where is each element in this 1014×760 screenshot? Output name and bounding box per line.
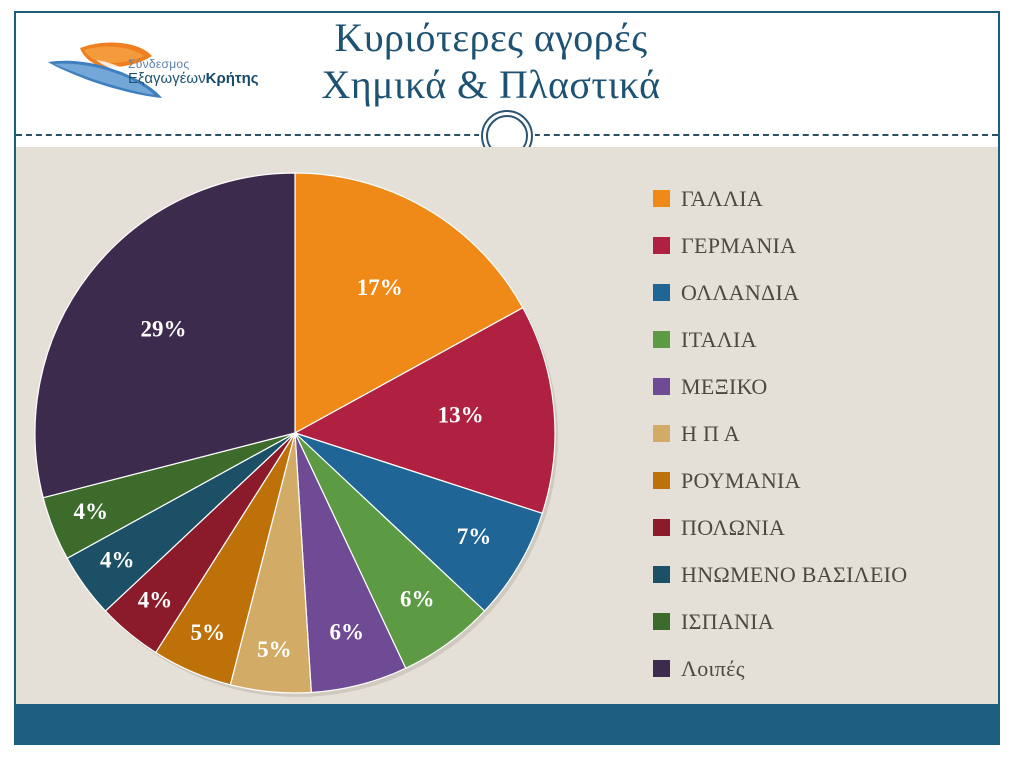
legend-swatch-icon: [653, 613, 670, 630]
legend-item[interactable]: ΟΛΛΑΝΔΙΑ: [653, 269, 983, 316]
legend-swatch-icon: [653, 472, 670, 489]
legend-swatch-icon: [653, 566, 670, 583]
pie-chart: 17%13%7%6%6%5%5%4%4%4%29%: [20, 157, 580, 697]
legend-item[interactable]: ΠΟΛΩΝΙΑ: [653, 504, 983, 551]
slide-root: Κυριότερες αγορές Χημικά & Πλαστικά Σύνδ…: [0, 0, 1014, 760]
legend-item-label: ΙΤΑΛΙΑ: [681, 327, 757, 353]
pie-slice-label: 4%: [100, 547, 135, 572]
legend-swatch-icon: [653, 660, 670, 677]
legend-item[interactable]: ΡΟΥΜΑΝΙΑ: [653, 457, 983, 504]
legend-item-label: ΜΕΞΙΚΟ: [681, 374, 768, 400]
pie-slice-group: [35, 173, 558, 697]
pie-slice-label: 4%: [73, 499, 108, 524]
legend-item[interactable]: ΓΑΛΛΙΑ: [653, 175, 983, 222]
logo-line-2-part-2: Κρήτης: [206, 70, 259, 87]
logo-wordmark: Σύνδεσμος ΕξαγωγέωνΚρήτης: [128, 58, 258, 86]
pie-slice-label: 6%: [400, 587, 435, 612]
legend-swatch-icon: [653, 519, 670, 536]
legend-item[interactable]: ΜΕΞΙΚΟ: [653, 363, 983, 410]
legend-swatch-icon: [653, 378, 670, 395]
organization-logo: Σύνδεσμος ΕξαγωγέωνΚρήτης: [44, 40, 244, 104]
chart-legend: ΓΑΛΛΙΑΓΕΡΜΑΝΙΑΟΛΛΑΝΔΙΑΙΤΑΛΙΑΜΕΞΙΚΟΗ Π ΑΡ…: [653, 175, 983, 692]
legend-swatch-icon: [653, 190, 670, 207]
pie-slice-label: 29%: [141, 316, 187, 341]
legend-item-label: ΡΟΥΜΑΝΙΑ: [681, 468, 801, 494]
logo-line-1: Σύνδεσμος: [128, 58, 258, 70]
legend-item-label: Λοιπές: [681, 656, 745, 682]
legend-item-label: Η Π Α: [681, 421, 740, 447]
logo-line-2-part-1: Εξαγωγέων: [128, 70, 206, 87]
pie-slice-label: 5%: [257, 637, 292, 662]
pie-slice-label: 13%: [438, 403, 484, 428]
legend-swatch-icon: [653, 237, 670, 254]
legend-item-label: ΠΟΛΩΝΙΑ: [681, 515, 785, 541]
legend-item[interactable]: Η Π Α: [653, 410, 983, 457]
legend-item-label: ΓΑΛΛΙΑ: [681, 186, 763, 212]
pie-slice-label: 5%: [190, 620, 225, 645]
pie-slice-label: 4%: [138, 588, 173, 613]
legend-swatch-icon: [653, 284, 670, 301]
legend-item-label: ΟΛΛΑΝΔΙΑ: [681, 280, 799, 306]
legend-item[interactable]: Λοιπές: [653, 645, 983, 692]
legend-item-label: ΗΝΩΜΕΝΟ ΒΑΣΙΛΕΙΟ: [681, 562, 908, 588]
legend-item-label: ΓΕΡΜΑΝΙΑ: [681, 233, 796, 259]
legend-item-label: ΙΣΠΑΝΙΑ: [681, 609, 774, 635]
legend-item[interactable]: ΙΤΑΛΙΑ: [653, 316, 983, 363]
legend-item[interactable]: ΙΣΠΑΝΙΑ: [653, 598, 983, 645]
logo-line-2: ΕξαγωγέωνΚρήτης: [128, 71, 258, 86]
pie-chart-svg: 17%13%7%6%6%5%5%4%4%4%29%: [20, 157, 580, 697]
legend-item[interactable]: ΓΕΡΜΑΝΙΑ: [653, 222, 983, 269]
pie-slice-label: 7%: [457, 524, 492, 549]
pie-slice-label: 17%: [357, 275, 403, 300]
legend-swatch-icon: [653, 331, 670, 348]
pie-slice-label: 6%: [329, 620, 364, 645]
footer-accent-bar: [16, 704, 998, 743]
legend-swatch-icon: [653, 425, 670, 442]
legend-item[interactable]: ΗΝΩΜΕΝΟ ΒΑΣΙΛΕΙΟ: [653, 551, 983, 598]
